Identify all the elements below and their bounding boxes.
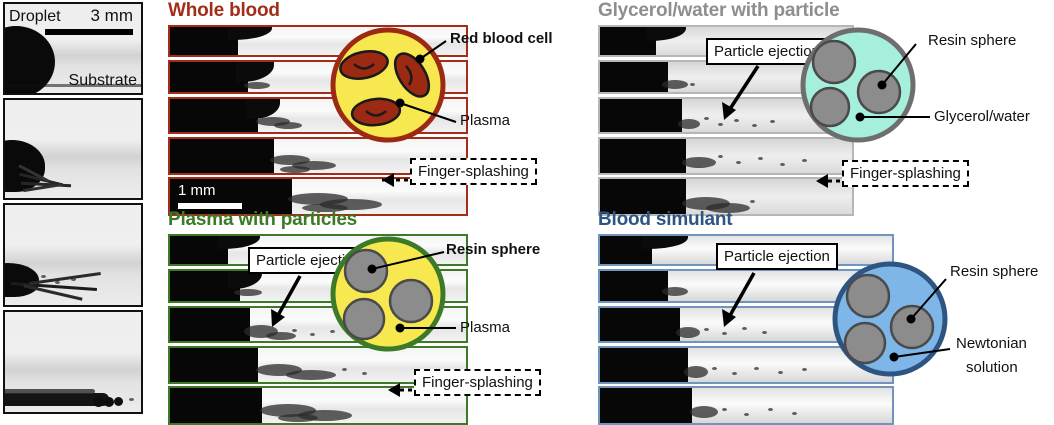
left-frame-2	[3, 98, 143, 200]
finger-splash-leader	[168, 0, 468, 208]
panel-whole-blood: Whole blood	[168, 0, 468, 208]
left-frame-3	[3, 203, 143, 307]
panel-blood-simulant: Blood simulant	[598, 209, 1054, 417]
ejected-drop	[93, 396, 104, 407]
scale-bar-3mm-label: 3 mm	[91, 6, 134, 26]
left-column-sequence: Droplet Substrate 3 mm	[0, 0, 146, 417]
annotation-resin-sphere: Resin sphere	[950, 263, 1038, 280]
ejected-drop	[114, 397, 123, 406]
panel-glycerol-water-with-particle: Glycerol/water with particle	[598, 0, 1054, 208]
particle-ejection-leader	[598, 209, 1054, 417]
leader-arrowhead	[388, 383, 400, 397]
ejecta-speck	[41, 275, 46, 278]
resin-sphere	[891, 306, 933, 348]
ejected-drop	[104, 397, 114, 407]
scale-bar-3mm	[45, 29, 133, 35]
droplet-label: Droplet	[9, 8, 61, 26]
annotation-newtonian-solution-line2: solution	[966, 359, 1018, 376]
left-frame-4	[3, 310, 143, 414]
substrate-label: Substrate	[69, 72, 137, 90]
leader-arrowhead	[382, 173, 394, 187]
ejecta-speck	[55, 281, 60, 284]
leader-line	[728, 273, 754, 319]
left-frame-1: Droplet Substrate 3 mm	[3, 2, 143, 95]
resin-sphere	[845, 323, 885, 363]
annotation-newtonian-solution-line1: Newtonian	[956, 335, 1027, 352]
panel-plasma-with-particles: Plasma with particles	[168, 209, 468, 417]
finger-splash-leader	[168, 209, 468, 417]
lamella-rim	[3, 389, 95, 394]
resin-sphere	[847, 275, 889, 317]
leader-arrowhead	[816, 174, 828, 188]
ejecta-speck	[71, 278, 76, 281]
ejected-speck	[129, 398, 134, 401]
figure-root: Droplet Substrate 3 mm	[0, 0, 1054, 417]
finger-splash-leader	[598, 0, 1054, 208]
